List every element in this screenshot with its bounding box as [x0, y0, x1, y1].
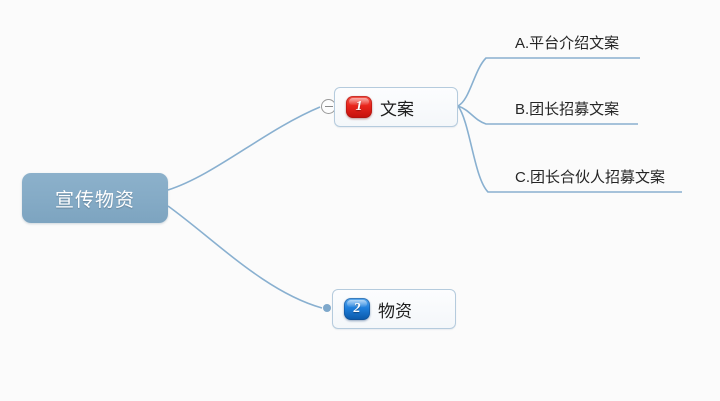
branch-node-wenan[interactable]: 1 文案: [334, 87, 458, 127]
root-node-label: 宣传物资: [55, 185, 135, 212]
edge-endpoint-dot-branch2: [323, 304, 331, 312]
edge-root-to-branch2: [168, 206, 322, 308]
branch-node-wenan-label: 文案: [380, 95, 414, 120]
leaf-node-a[interactable]: A.平台介绍文案: [512, 32, 619, 56]
leaf-node-b-label: B.团长招募文案: [512, 98, 619, 122]
leaf-node-c[interactable]: C.团长合伙人招募文案: [512, 166, 665, 190]
edge-root-to-branch1: [168, 107, 320, 190]
leaf-node-c-label: C.团长合伙人招募文案: [512, 166, 665, 190]
branch-node-wuzi[interactable]: 2 物资: [332, 289, 456, 329]
leaf-node-a-label: A.平台介绍文案: [512, 32, 619, 56]
badge-2: 2: [344, 298, 370, 320]
leaf-node-b[interactable]: B.团长招募文案: [512, 98, 619, 122]
root-node[interactable]: 宣传物资: [22, 173, 168, 223]
branch-node-wuzi-label: 物资: [378, 297, 412, 322]
minus-glyph: [325, 106, 333, 107]
badge-1: 1: [346, 96, 372, 118]
mindmap-canvas: 宣传物资 1 文案 2 物资 A.平台介绍文案 B.团长招募文案 C.团长合伙人…: [0, 0, 720, 401]
